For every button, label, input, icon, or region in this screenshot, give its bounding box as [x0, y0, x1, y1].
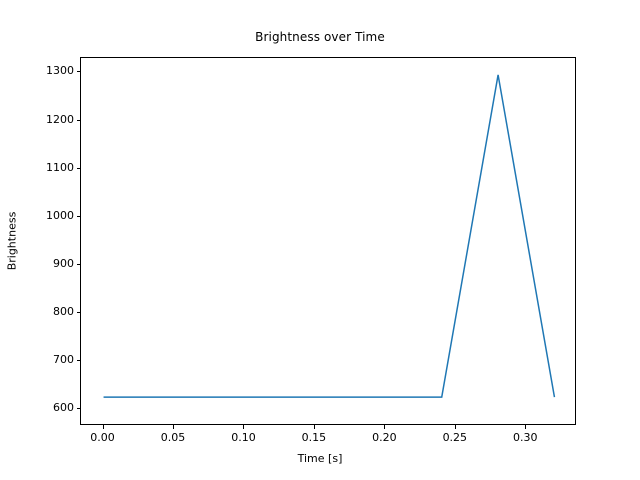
x-axis-tick-label: 0.30	[495, 432, 555, 443]
x-axis-tick-label: 0.00	[73, 432, 133, 443]
y-axis-tick-label: 1100	[0, 162, 74, 173]
y-axis-tick-label: 900	[0, 258, 74, 269]
y-axis-tick-label: 1000	[0, 210, 74, 221]
chart-title: Brightness over Time	[0, 30, 640, 44]
line-series-brightness	[104, 75, 555, 397]
y-axis-tick-label: 700	[0, 354, 74, 365]
data-series-canvas	[81, 58, 577, 426]
chart-figure: Brightness over Time Brightness 60070080…	[0, 0, 640, 480]
y-axis-tick-label: 1300	[0, 65, 74, 76]
y-axis-tick-label: 1200	[0, 114, 74, 125]
x-axis-tick-label: 0.20	[354, 432, 414, 443]
plot-area	[80, 57, 576, 425]
y-axis-tick-label: 800	[0, 306, 74, 317]
x-axis-label: Time [s]	[0, 452, 640, 465]
x-axis-tick-label: 0.25	[425, 432, 485, 443]
x-axis-tick-label: 0.05	[143, 432, 203, 443]
x-axis-tick-label: 0.15	[284, 432, 344, 443]
x-axis-tick-label: 0.10	[213, 432, 273, 443]
y-axis-tick-label: 600	[0, 402, 74, 413]
